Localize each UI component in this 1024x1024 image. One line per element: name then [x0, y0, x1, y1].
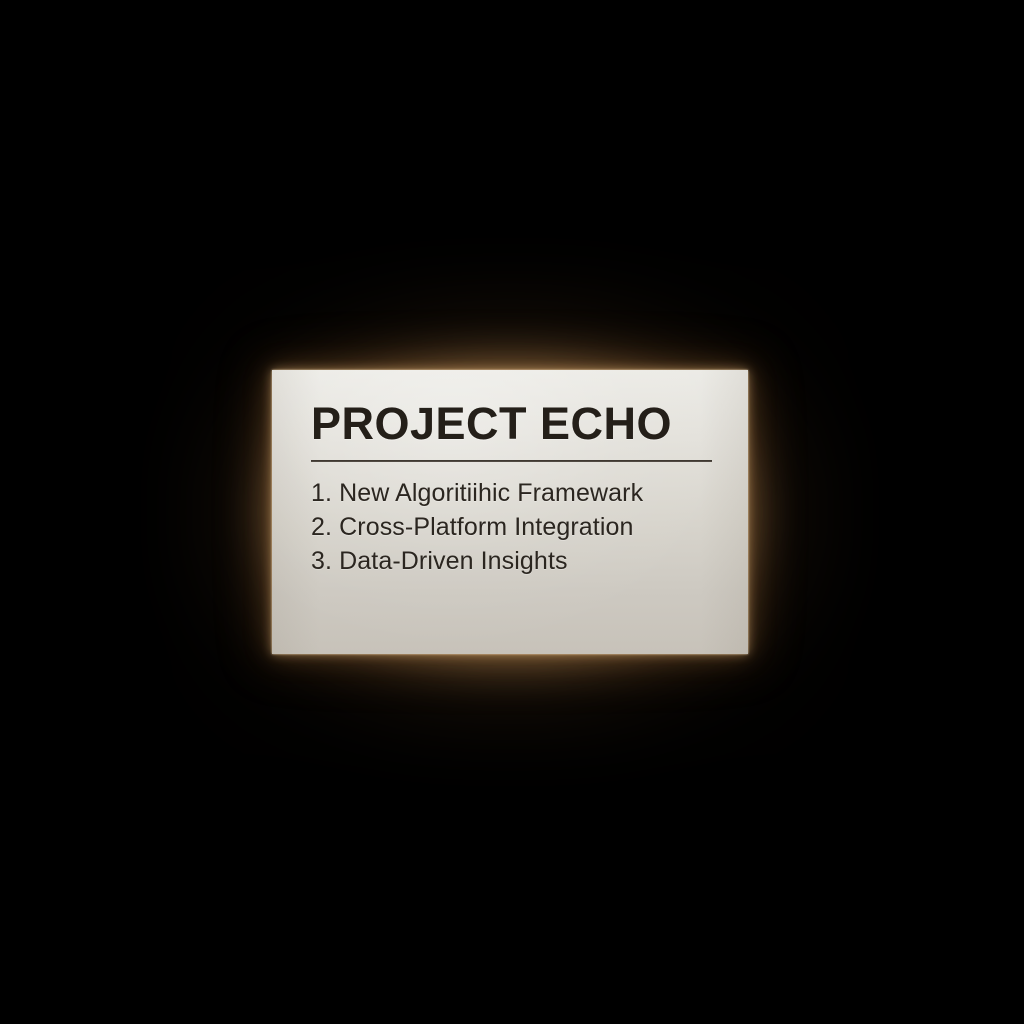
list-item-label: New Algoritiihic Framewark [339, 479, 643, 507]
slide-bullet-list: 1. New Algoritiihic Framewark 2. Cross-P… [311, 476, 718, 578]
list-item-number: 3. [311, 544, 332, 578]
list-item-label: Data-Driven Insights [339, 547, 567, 575]
slide-content: PROJECT ECHO 1. New Algoritiihic Framewa… [311, 401, 718, 578]
slide-title: PROJECT ECHO [311, 401, 718, 446]
list-item-number: 2. [311, 510, 332, 544]
list-item: 2. Cross-Platform Integration [311, 510, 718, 544]
presentation-slide[interactable]: PROJECT ECHO 1. New Algoritiihic Framewa… [272, 370, 748, 654]
title-divider [311, 460, 712, 462]
list-item-label: Cross-Platform Integration [339, 513, 633, 541]
list-item-number: 1. [311, 476, 332, 510]
list-item: 1. New Algoritiihic Framewark [311, 476, 718, 510]
list-item: 3. Data-Driven Insights [311, 544, 718, 578]
presentation-scene: PROJECT ECHO 1. New Algoritiihic Framewa… [0, 0, 1024, 1024]
